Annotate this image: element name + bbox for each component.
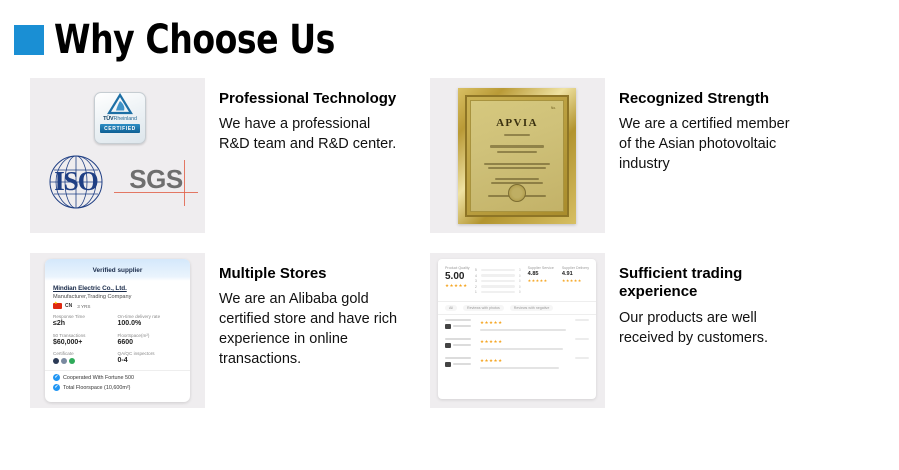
- feature-heading: Professional Technology: [219, 90, 403, 108]
- score-stars: ★★★★★: [445, 283, 475, 289]
- certificate-line: [504, 134, 530, 136]
- tuv-wordmark: TÜVRheinland: [103, 116, 137, 122]
- certificate-line: [488, 167, 546, 169]
- tuv-rheinland-certified-icon: TÜVRheinland CERTIFIED: [94, 92, 146, 144]
- tab-with-photos[interactable]: Reviews with photos: [463, 305, 504, 311]
- review-body: ★★★★★: [480, 338, 570, 350]
- reviews-thumbnail: Product Quality 5.00 ★★★★★ 5 3: [430, 253, 605, 408]
- feature-card-trading-experience: Product Quality 5.00 ★★★★★ 5 3: [430, 253, 803, 408]
- certificate-line: [495, 178, 539, 180]
- supplier-card: Verified supplier Mindian Electric Co., …: [45, 259, 190, 402]
- bar-label: 5: [475, 268, 479, 272]
- certificate-line: [490, 145, 544, 148]
- footer-label: Cooperated With Fortune 500: [63, 375, 134, 381]
- certificate-serial: No.: [551, 106, 556, 110]
- user-meta: [445, 362, 475, 367]
- column-stars: ★★★★★: [562, 278, 589, 283]
- rating-bar-row: 2 0: [475, 285, 521, 289]
- stat-value: 100.0%: [118, 320, 183, 329]
- feature-copy: Professional Technology We have a profes…: [205, 78, 403, 233]
- feature-row: TÜVRheinland CERTIFIED: [30, 78, 875, 233]
- user-name-placeholder: [445, 319, 471, 321]
- supplier-footer-row: ✓ Total Floorspace (10,600m²): [53, 384, 182, 391]
- tab-all[interactable]: All: [445, 305, 457, 311]
- user-meta: [445, 343, 475, 348]
- stat-value: $60,000+: [53, 339, 118, 348]
- bar-label: 3: [475, 279, 479, 283]
- certificate-line: [497, 151, 537, 153]
- date-placeholder: [575, 338, 589, 340]
- supplier-origin: CN 3 YRS: [53, 303, 182, 309]
- review-user: [445, 319, 475, 331]
- footer-label: Total Floorspace (10,600m²): [63, 385, 130, 391]
- review-date: [575, 357, 589, 369]
- stat-value: 6600: [118, 339, 183, 348]
- column-label: Supplier Service: [528, 266, 554, 270]
- feature-body: We are a certified member of the Asian p…: [619, 114, 803, 174]
- verified-supplier-badge: Verified supplier: [93, 267, 143, 274]
- supplier-card-body: Mindian Electric Co., Ltd. Manufacturer,…: [45, 281, 190, 370]
- review-text-placeholder: [480, 348, 563, 350]
- bar-track: [481, 285, 515, 288]
- review-user: [445, 338, 475, 350]
- column-value: 4.85: [528, 271, 554, 277]
- review-user: [445, 357, 475, 369]
- stat-value: 0-4: [118, 357, 183, 366]
- feature-heading: Sufficient trading experience: [619, 265, 803, 302]
- date-placeholder: [575, 357, 589, 359]
- review-row: ★★★★★: [445, 338, 589, 350]
- certificate-title: APVIA: [496, 117, 538, 129]
- review-date: [575, 338, 589, 350]
- supplier-stat: QA/QC inspectors 0-4: [118, 351, 183, 366]
- feature-copy: Multiple Stores We are an Alibaba gold c…: [205, 253, 403, 408]
- supplier-country: CN: [65, 303, 72, 309]
- page-title: Why Choose Us: [54, 20, 335, 60]
- feature-card-professional-technology: TÜVRheinland CERTIFIED: [30, 78, 403, 233]
- column-value: 4.91: [562, 271, 589, 277]
- feature-card-multiple-stores: Verified supplier Mindian Electric Co., …: [30, 253, 403, 408]
- review-body: ★★★★★: [480, 357, 570, 369]
- feature-heading: Recognized Strength: [619, 90, 803, 108]
- certificate-icon: [53, 358, 59, 364]
- reviews-filter-tabs: All Reviews with photos Reviews with neg…: [438, 301, 596, 315]
- date-placeholder: [575, 319, 589, 321]
- accent-square-icon: [14, 25, 44, 55]
- review-row: ★★★★★: [445, 319, 589, 331]
- tuv-triangle-icon: [107, 93, 133, 115]
- feature-heading: Multiple Stores: [219, 265, 403, 283]
- user-meta: [445, 324, 475, 329]
- sgs-wordmark: SGS: [120, 166, 192, 192]
- sgs-crosshair-vertical: [184, 160, 185, 206]
- supplier-stat: Certificate: [53, 351, 118, 366]
- iso-wordmark: ISO: [44, 168, 108, 195]
- supplier-card-header: Verified supplier: [45, 259, 190, 281]
- certificate-seal-icon: [508, 184, 526, 202]
- certificate-paper: No. APVIA: [470, 100, 564, 212]
- rating-column: Supplier Service 4.85 ★★★★★: [528, 266, 554, 296]
- score-value: 5.00: [445, 271, 475, 282]
- supplier-card-footer: ✓ Cooperated With Fortune 500 ✓ Total Fl…: [45, 370, 190, 391]
- column-stars: ★★★★★: [528, 278, 554, 283]
- rating-bar-row: 1 0: [475, 290, 521, 294]
- reviews-list: ★★★★★ ★★★★: [438, 315, 596, 380]
- certificate-icon: [69, 358, 75, 364]
- verified-supplier-thumbnail: Verified supplier Mindian Electric Co., …: [30, 253, 205, 408]
- column-label: Supplier Delivery: [562, 266, 589, 270]
- review-row: ★★★★★: [445, 357, 589, 369]
- tab-negative[interactable]: Reviews with negative: [510, 305, 554, 311]
- supplier-stat: On-time delivery rate 100.0%: [118, 314, 183, 329]
- feature-body: Our products are well received by custom…: [619, 308, 803, 348]
- bar-track: [481, 269, 515, 272]
- china-flag-icon: [53, 303, 62, 309]
- stat-value: ≤2h: [53, 320, 118, 329]
- review-date: [575, 319, 589, 331]
- bar-track: [481, 274, 515, 277]
- why-choose-us-section: Why Choose Us TÜVRheinland CERTIFIED: [0, 0, 899, 470]
- feature-body: We are an Alibaba gold certified store a…: [219, 289, 403, 369]
- gold-certificate-thumbnail: No. APVIA: [430, 78, 605, 233]
- review-text-placeholder: [480, 367, 559, 369]
- supplier-stat: 50 Transactions $60,000+: [53, 333, 118, 348]
- supplier-name[interactable]: Mindian Electric Co., Ltd.: [53, 285, 182, 292]
- product-quality-score: Product Quality 5.00 ★★★★★: [445, 266, 475, 296]
- check-icon: ✓: [53, 384, 60, 391]
- user-name-placeholder: [445, 357, 471, 359]
- user-country-placeholder: [453, 344, 471, 346]
- bar-label: 4: [475, 274, 479, 278]
- rating-bar-row: 5 3: [475, 268, 521, 272]
- score-label: Product Quality: [445, 266, 475, 270]
- supplier-type: Manufacturer,Trading Company: [53, 294, 182, 300]
- tuv-certified-badge: CERTIFIED: [100, 124, 140, 133]
- review-body: ★★★★★: [480, 319, 570, 331]
- user-country-placeholder: [453, 363, 471, 365]
- review-stars: ★★★★★: [480, 358, 570, 364]
- rating-bars: 5 3 4 0 3: [475, 266, 521, 296]
- feature-copy: Sufficient trading experience Our produc…: [605, 253, 803, 408]
- review-text-placeholder: [480, 329, 566, 331]
- sgs-logo-icon: SGS: [120, 158, 192, 206]
- certificate-frame: No. APVIA: [458, 88, 576, 224]
- reviews-panel: Product Quality 5.00 ★★★★★ 5 3: [438, 259, 596, 399]
- bar-track: [481, 280, 515, 283]
- rating-column: Supplier Delivery 4.91 ★★★★★: [562, 266, 589, 296]
- stat-label: Certificate: [53, 351, 118, 357]
- review-stars: ★★★★★: [480, 320, 570, 326]
- supplier-stat: FloorSpace(m²) 6600: [118, 333, 183, 348]
- bar-label: 2: [475, 285, 479, 289]
- supplier-footer-row: ✓ Cooperated With Fortune 500: [53, 374, 182, 381]
- review-stars: ★★★★★: [480, 339, 570, 345]
- certification-logos-thumbnail: TÜVRheinland CERTIFIED: [30, 78, 205, 233]
- certificate-line: [484, 163, 550, 165]
- certificate-icon: [61, 358, 67, 364]
- iso-logo-icon: ISO: [40, 154, 112, 210]
- user-name-placeholder: [445, 338, 471, 340]
- sgs-crosshair-horizontal: [114, 192, 198, 193]
- feature-card-recognized-strength: No. APVIA: [430, 78, 803, 233]
- bar-track: [481, 291, 515, 294]
- certificate-bevel: No. APVIA: [465, 95, 569, 217]
- avatar: [445, 362, 451, 367]
- supplier-stat: Response Time ≤2h: [53, 314, 118, 329]
- certificate-icons: [53, 358, 118, 364]
- supplier-years: 3 YRS: [77, 304, 90, 309]
- section-header: Why Choose Us: [0, 14, 359, 66]
- rating-columns: Supplier Service 4.85 ★★★★★ Supplier Del…: [521, 266, 589, 296]
- supplier-stats: Response Time ≤2h On-time delivery rate …: [53, 314, 182, 370]
- feature-copy: Recognized Strength We are a certified m…: [605, 78, 803, 233]
- bar-label: 1: [475, 290, 479, 294]
- user-country-placeholder: [453, 325, 471, 327]
- reviews-summary: Product Quality 5.00 ★★★★★ 5 3: [438, 259, 596, 301]
- rating-bar-row: 3 0: [475, 279, 521, 283]
- rating-bar-row: 4 0: [475, 274, 521, 278]
- avatar: [445, 343, 451, 348]
- feature-row: Verified supplier Mindian Electric Co., …: [30, 253, 875, 408]
- check-icon: ✓: [53, 374, 60, 381]
- feature-body: We have a professional R&D team and R&D …: [219, 114, 403, 154]
- avatar: [445, 324, 451, 329]
- feature-grid: TÜVRheinland CERTIFIED: [30, 78, 875, 408]
